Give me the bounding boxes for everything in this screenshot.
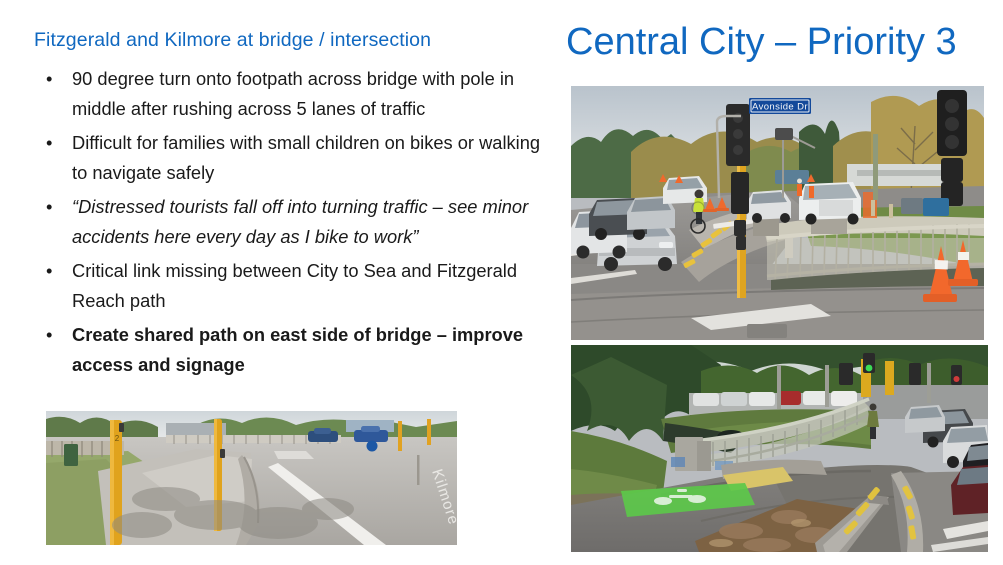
list-item: • Difficult for families with small chil…	[40, 128, 555, 187]
bullet-dot-icon: •	[46, 128, 52, 158]
bullet-dot-icon: •	[46, 64, 52, 94]
list-item-text-quote: “Distressed tourists fall off into turni…	[72, 192, 555, 251]
list-item-text: Critical link missing between City to Se…	[72, 256, 555, 315]
street-name-sign: Avonside Dr	[749, 98, 811, 114]
svg-text:Avonside Dr: Avonside Dr	[752, 102, 808, 113]
list-item: • Create shared path on east side of bri…	[40, 320, 555, 379]
list-item: • Critical link missing between City to …	[40, 256, 555, 315]
bullet-list: • 90 degree turn onto footpath across br…	[40, 64, 555, 384]
list-item: • 90 degree turn onto footpath across br…	[40, 64, 555, 123]
bullet-dot-icon: •	[46, 192, 52, 222]
photo-top-right: Avonside Dr	[571, 86, 984, 340]
bullet-dot-icon: •	[46, 256, 52, 286]
photo-bottom-left: 2 Kilmore	[46, 411, 457, 545]
list-item-text: 90 degree turn onto footpath across brid…	[72, 64, 555, 123]
left-heading: Fitzgerald and Kilmore at bridge / inter…	[34, 28, 554, 53]
slide-title: Central City – Priority 3	[566, 18, 1003, 66]
list-item: • “Distressed tourists fall off into tur…	[40, 192, 555, 251]
list-item-text-recommendation: Create shared path on east side of bridg…	[72, 320, 555, 379]
photo-bottom-right	[571, 345, 988, 552]
left-content-column: Fitzgerald and Kilmore at bridge / inter…	[0, 0, 560, 565]
slide-canvas: Fitzgerald and Kilmore at bridge / inter…	[0, 0, 1003, 565]
list-item-text: Difficult for families with small childr…	[72, 128, 555, 187]
svg-text:2: 2	[115, 434, 120, 443]
bullet-dot-icon: •	[46, 320, 52, 350]
